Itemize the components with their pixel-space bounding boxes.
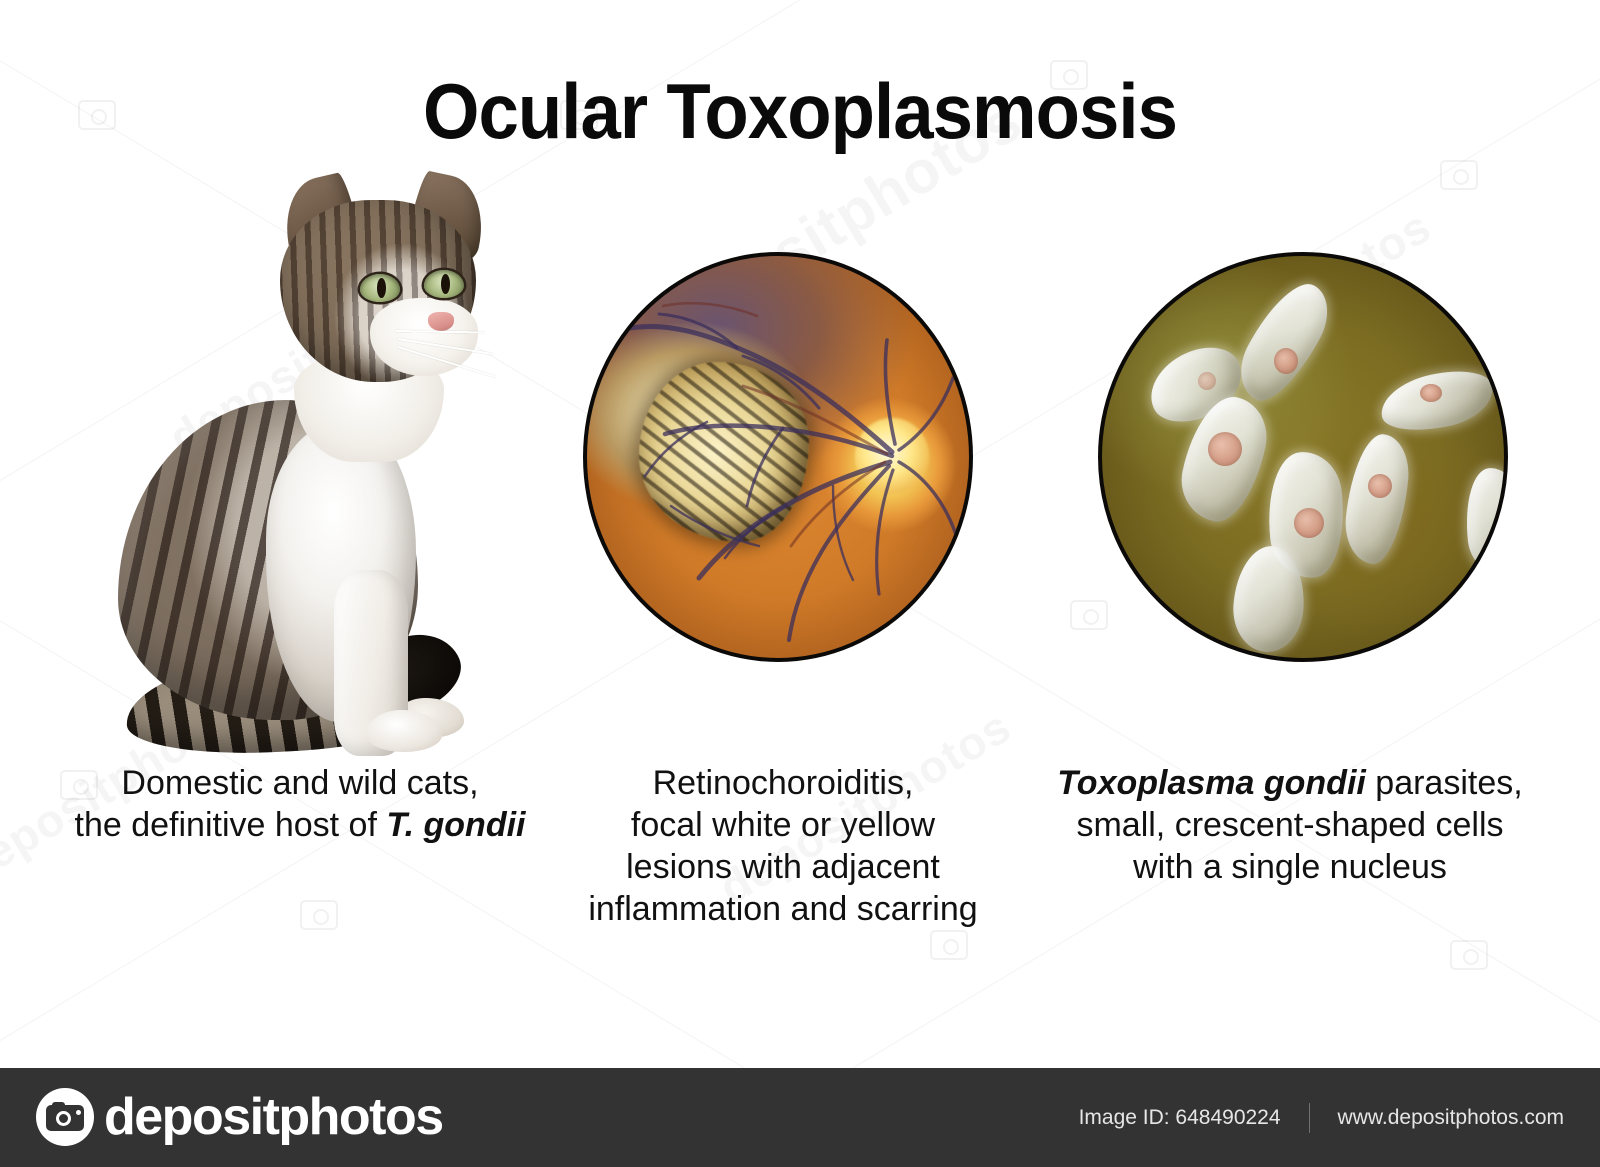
camera-icon [36,1088,94,1146]
caption-line: small, crescent-shaped cells [1010,804,1570,846]
cell-nucleus [1208,432,1242,466]
species-name: T. gondii [386,806,525,844]
cat-pupil-left [377,278,386,298]
caption-line: with a single nucleus [1010,846,1570,888]
illustration-canvas: depositphotos depositphotos depositphoto… [0,0,1600,1167]
camera-icon [930,930,968,960]
caption-text: the definitive host of [75,806,387,844]
camera-icon [1450,940,1488,970]
footer-meta: Image ID: 648490224 www.depositphotos.co… [1079,1068,1564,1167]
website-label[interactable]: www.depositphotos.com [1338,1106,1564,1130]
depositphotos-logo[interactable]: depositphotos [36,1084,443,1150]
toxoplasma-parasites-illustration [1098,252,1508,662]
caption-parasite: Toxoplasma gondii parasites, small, cres… [1010,762,1570,888]
camera-flash-icon [76,1110,81,1115]
camera-lens-icon [56,1111,71,1126]
caption-line: Retinochoroiditis, [548,762,1018,804]
species-name: Toxoplasma gondii [1057,764,1366,802]
caption-fundus: Retinochoroiditis, focal white or yellow… [548,762,1018,930]
cell-nucleus [1420,384,1442,402]
caption-line: lesions with adjacent [548,846,1018,888]
cat-pupil-right [441,274,450,294]
toxoplasma-cell [1376,363,1499,440]
depositphotos-footer-bar: depositphotos Image ID: 648490224 www.de… [0,1068,1600,1167]
caption-text: parasites, [1366,764,1523,802]
cell-nucleus [1274,348,1298,374]
page-title: Ocular Toxoplasmosis [56,66,1544,157]
caption-line: focal white or yellow [548,804,1018,846]
brand-wordmark: depositphotos [104,1091,443,1143]
panel-cat [40,150,540,770]
toxoplasma-cell [1341,431,1412,566]
camera-icon [1070,600,1108,630]
cell-nucleus [1294,508,1324,538]
caption-line: Domestic and wild cats, [20,762,580,804]
domestic-cat-photo [98,170,518,750]
caption-cat: Domestic and wild cats, the definitive h… [20,762,580,846]
cat-muzzle [370,298,478,376]
caption-line: the definitive host of T. gondii [20,804,580,846]
retinal-fundus-illustration [583,252,973,662]
footer-divider [1309,1103,1310,1133]
cell-nucleus [1198,372,1216,390]
caption-line: Toxoplasma gondii parasites, [1010,762,1570,804]
toxoplasma-cell [1227,271,1340,412]
camera-icon [300,900,338,930]
toxoplasma-cell [1461,465,1508,576]
caption-line: inflammation and scarring [548,888,1018,930]
camera-icon [1440,160,1478,190]
image-id-label: Image ID: 648490224 [1079,1106,1281,1130]
cell-nucleus [1368,474,1392,498]
retinal-vessels [587,256,973,662]
